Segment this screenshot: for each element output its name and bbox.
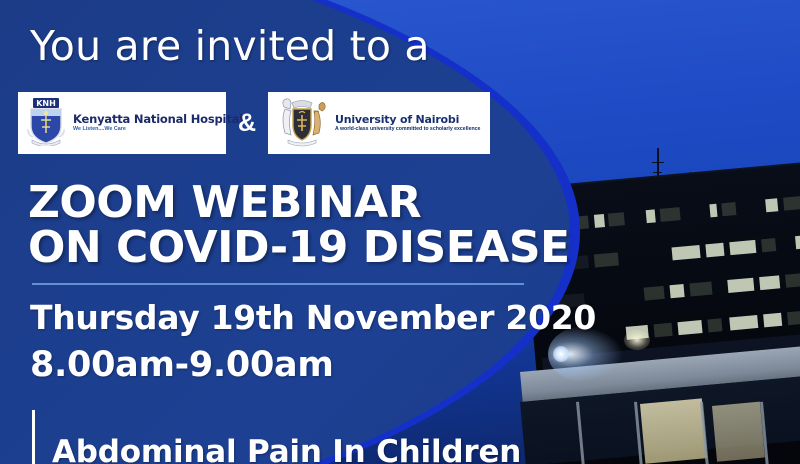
poster-content: You are invited to a KNH <box>0 0 800 464</box>
webinar-time: 8.00am-9.00am <box>30 345 334 385</box>
uon-name: University of Nairobi <box>335 114 480 126</box>
uon-logo-text: University of Nairobi A world-class univ… <box>335 114 480 133</box>
uon-coat-of-arms-icon <box>276 95 328 152</box>
knh-tagline: We Listen....We Care <box>73 127 243 133</box>
svg-text:KNH: KNH <box>36 99 56 108</box>
knh-logo-card: KNH Kenyatta National Hospital We Listen… <box>18 92 226 154</box>
headline-line-2: ON COVID-19 DISEASE <box>28 225 570 270</box>
invitation-line: You are invited to a <box>30 22 430 70</box>
topic-accent-bar <box>32 410 35 464</box>
webinar-invitation-poster: You are invited to a KNH <box>0 0 800 464</box>
ampersand-separator: & <box>226 92 268 154</box>
knh-name: Kenyatta National Hospital <box>73 113 243 125</box>
uon-logo-card: University of Nairobi A world-class univ… <box>268 92 490 154</box>
logo-strip: KNH Kenyatta National Hospital We Listen… <box>18 92 490 154</box>
webinar-headline: ZOOM WEBINAR ON COVID-19 DISEASE <box>28 180 570 271</box>
headline-divider <box>32 283 524 285</box>
uon-tagline: A world-class university committed to sc… <box>335 127 480 132</box>
webinar-date: Thursday 19th November 2020 <box>30 298 596 337</box>
webinar-topic: Abdominal Pain In Children <box>52 434 521 464</box>
knh-shield-crest-icon: KNH <box>26 96 66 151</box>
headline-line-1: ZOOM WEBINAR <box>28 180 570 225</box>
knh-logo-text: Kenyatta National Hospital We Listen....… <box>73 113 243 133</box>
